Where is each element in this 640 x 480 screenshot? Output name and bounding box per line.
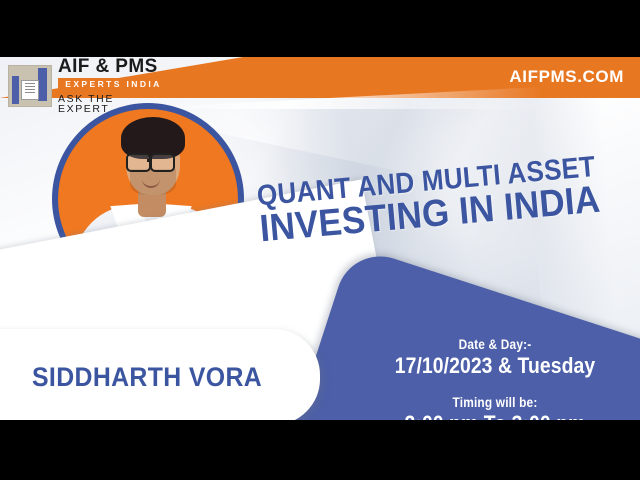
video-frame: AIFPMS.COM AIF & PMS EXPERTS INDIA ASK T…	[0, 0, 640, 480]
time-label: Timing will be:	[367, 395, 622, 410]
date-value: 17/10/2023 & Tuesday	[367, 353, 622, 379]
time-value: 2:00 pm To 3:00 pm	[367, 411, 622, 420]
logo-text-block: AIF & PMS EXPERTS INDIA ASK THE EXPERT	[58, 57, 168, 115]
logo-ledger	[21, 80, 39, 100]
schedule-text-block: Date & Day:- 17/10/2023 & Tuesday Timing…	[350, 279, 640, 420]
speaker-name-panel: SIDDHARTH VORA	[0, 329, 320, 420]
glasses-bridge-icon	[147, 159, 152, 162]
logo-tagline: ASK THE EXPERT	[58, 94, 168, 115]
glasses-lens-left-icon	[126, 153, 151, 172]
building-ledger-icon	[8, 65, 52, 107]
date-label: Date & Day:-	[367, 337, 622, 352]
logo-title: AIF & PMS	[58, 57, 168, 76]
logo-subtitle: EXPERTS INDIA	[58, 78, 168, 91]
brand-logo[interactable]: AIF & PMS EXPERTS INDIA ASK THE EXPERT	[8, 59, 168, 113]
logo-bar-left	[12, 76, 19, 104]
speaker-name: SIDDHARTH VORA	[32, 362, 262, 393]
glasses-lens-right-icon	[150, 153, 175, 172]
website-label: AIFPMS.COM	[509, 67, 624, 87]
thumbnail-stage: AIFPMS.COM AIF & PMS EXPERTS INDIA ASK T…	[0, 57, 640, 420]
logo-bar-right	[38, 68, 47, 101]
